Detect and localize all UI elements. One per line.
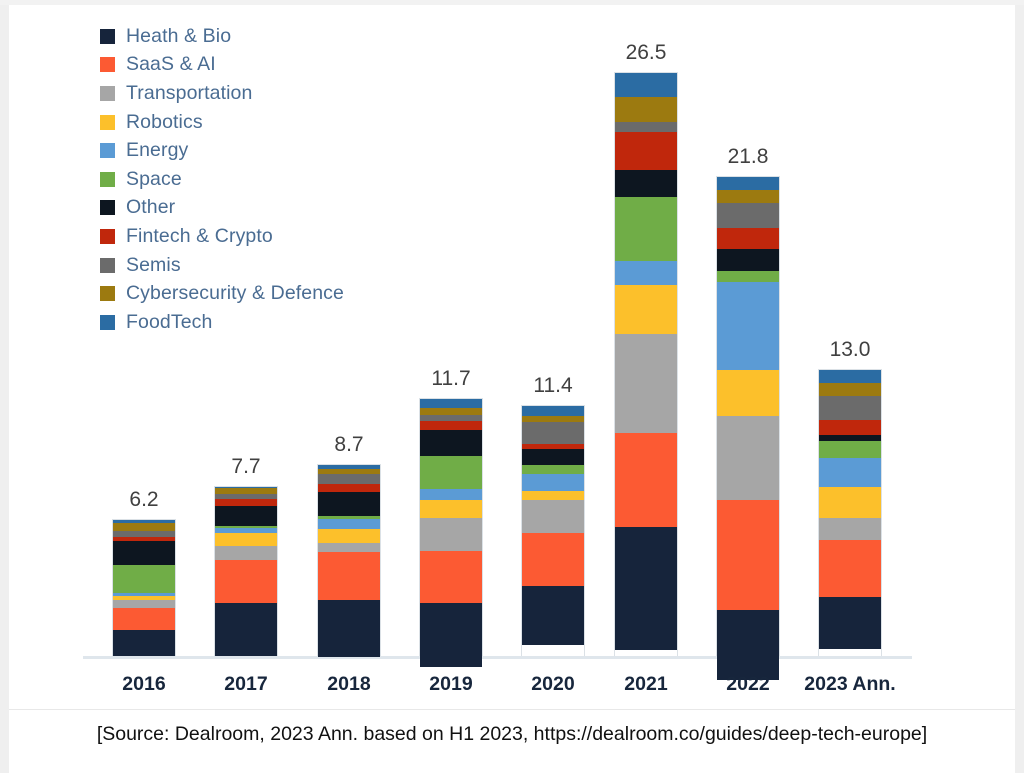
bar-segment[interactable] — [318, 474, 380, 484]
bar-segment[interactable] — [717, 282, 779, 370]
bar-segment[interactable] — [318, 484, 380, 492]
bar-segment[interactable] — [420, 430, 482, 456]
bar-segment[interactable] — [819, 518, 881, 540]
bar-segment[interactable] — [318, 543, 380, 552]
bar-total-label: 8.7 — [334, 433, 363, 457]
bar-segment[interactable] — [819, 597, 881, 650]
bar-group: 11.42020 — [521, 405, 585, 656]
bar-segment[interactable] — [215, 546, 277, 559]
bar-segment[interactable] — [819, 458, 881, 487]
bar-total-label: 13.0 — [830, 338, 871, 362]
bar-segment[interactable] — [819, 540, 881, 597]
stacked-bar[interactable] — [716, 176, 780, 656]
bar-segment[interactable] — [819, 383, 881, 396]
bar-segment[interactable] — [215, 533, 277, 546]
x-axis-tick-label: 2022 — [726, 673, 769, 696]
bar-total-label: 11.7 — [431, 367, 470, 391]
bar-segment[interactable] — [819, 441, 881, 459]
bar-segment[interactable] — [615, 73, 677, 97]
bar-segment[interactable] — [318, 529, 380, 543]
x-axis-tick-label: 2016 — [122, 673, 165, 696]
bar-segment[interactable] — [113, 630, 175, 656]
bar-segment[interactable] — [420, 421, 482, 430]
bar-segment[interactable] — [420, 456, 482, 489]
bar-segment[interactable] — [420, 489, 482, 500]
bar-segment[interactable] — [522, 491, 584, 500]
stacked-bar[interactable] — [214, 486, 278, 656]
bar-segment[interactable] — [717, 610, 779, 680]
bar-segment[interactable] — [615, 122, 677, 132]
bar-segment[interactable] — [522, 422, 584, 444]
bar-segment[interactable] — [717, 203, 779, 228]
x-axis-tick-label: 2021 — [624, 673, 667, 696]
bar-segment[interactable] — [113, 523, 175, 532]
stacked-bar[interactable] — [317, 464, 381, 656]
bar-segment[interactable] — [615, 285, 677, 333]
source-note: [Source: Dealroom, 2023 Ann. based on H1… — [0, 723, 1024, 746]
bar-group: 8.72018 — [317, 464, 381, 656]
bar-segment[interactable] — [615, 132, 677, 169]
bar-group: 13.02023 Ann. — [818, 369, 882, 656]
bar-segment[interactable] — [717, 177, 779, 190]
bar-total-label: 21.8 — [728, 145, 769, 169]
x-axis-tick-label: 2019 — [429, 673, 472, 696]
bar-segment[interactable] — [717, 249, 779, 271]
bar-segment[interactable] — [717, 190, 779, 203]
bar-group: 11.72019 — [419, 398, 483, 656]
bar-segment[interactable] — [717, 500, 779, 610]
bar-segment[interactable] — [420, 603, 482, 667]
bar-segment[interactable] — [420, 408, 482, 415]
slide-canvas: Heath & BioSaaS & AITransportationRoboti… — [0, 0, 1024, 773]
stacked-bar[interactable] — [614, 72, 678, 656]
bar-segment[interactable] — [522, 586, 584, 645]
stacked-bar[interactable] — [112, 519, 176, 656]
bar-group: 21.82022 — [716, 176, 780, 656]
bar-segment[interactable] — [819, 370, 881, 382]
bar-segment[interactable] — [522, 474, 584, 492]
bar-segment[interactable] — [215, 603, 277, 656]
bar-total-label: 6.2 — [129, 488, 158, 512]
bar-segment[interactable] — [113, 565, 175, 592]
bar-segment[interactable] — [615, 170, 677, 198]
bar-segment[interactable] — [318, 552, 380, 600]
bar-segment[interactable] — [615, 527, 677, 650]
bar-segment[interactable] — [522, 449, 584, 465]
x-axis-tick-label: 2017 — [224, 673, 267, 696]
bar-segment[interactable] — [215, 560, 277, 604]
bar-segment[interactable] — [420, 500, 482, 518]
bar-segment[interactable] — [717, 370, 779, 416]
bar-segment[interactable] — [113, 600, 175, 608]
bar-segment[interactable] — [522, 416, 584, 423]
bar-segment[interactable] — [215, 506, 277, 526]
bar-segment[interactable] — [615, 261, 677, 285]
bar-segment[interactable] — [615, 197, 677, 261]
bar-segment[interactable] — [615, 433, 677, 528]
bar-segment[interactable] — [318, 600, 380, 657]
bar-segment[interactable] — [819, 487, 881, 518]
stacked-bar-chart: 6.220167.720178.7201811.7201911.4202026.… — [0, 0, 1024, 773]
bar-segment[interactable] — [522, 500, 584, 533]
bar-segment[interactable] — [717, 228, 779, 249]
footer-divider — [9, 709, 1015, 710]
bar-group: 7.72017 — [214, 486, 278, 656]
bar-segment[interactable] — [113, 541, 175, 565]
x-axis-tick-label: 2023 Ann. — [804, 673, 895, 696]
bar-segment[interactable] — [819, 420, 881, 435]
bar-total-label: 26.5 — [626, 41, 667, 65]
bar-segment[interactable] — [615, 97, 677, 122]
bar-segment[interactable] — [522, 533, 584, 586]
bar-segment[interactable] — [522, 406, 584, 416]
bar-group: 6.22016 — [112, 519, 176, 656]
bar-segment[interactable] — [420, 415, 482, 422]
stacked-bar[interactable] — [818, 369, 882, 656]
bar-total-label: 11.4 — [533, 374, 572, 398]
stacked-bar[interactable] — [419, 398, 483, 656]
stacked-bar[interactable] — [521, 405, 585, 656]
bar-segment[interactable] — [615, 334, 677, 433]
bar-segment[interactable] — [819, 396, 881, 420]
bar-segment[interactable] — [318, 492, 380, 516]
bar-segment[interactable] — [522, 465, 584, 474]
bar-segment[interactable] — [318, 519, 380, 529]
bar-segment[interactable] — [420, 551, 482, 604]
bar-segment[interactable] — [420, 518, 482, 551]
bar-segment[interactable] — [717, 271, 779, 282]
bar-total-label: 7.7 — [231, 455, 260, 479]
bar-segment[interactable] — [113, 608, 175, 630]
x-axis-baseline — [83, 656, 912, 659]
bar-segment[interactable] — [717, 416, 779, 500]
bar-group: 26.52021 — [614, 72, 678, 656]
x-axis-tick-label: 2018 — [327, 673, 370, 696]
x-axis-tick-label: 2020 — [531, 673, 574, 696]
bar-segment[interactable] — [420, 399, 482, 408]
